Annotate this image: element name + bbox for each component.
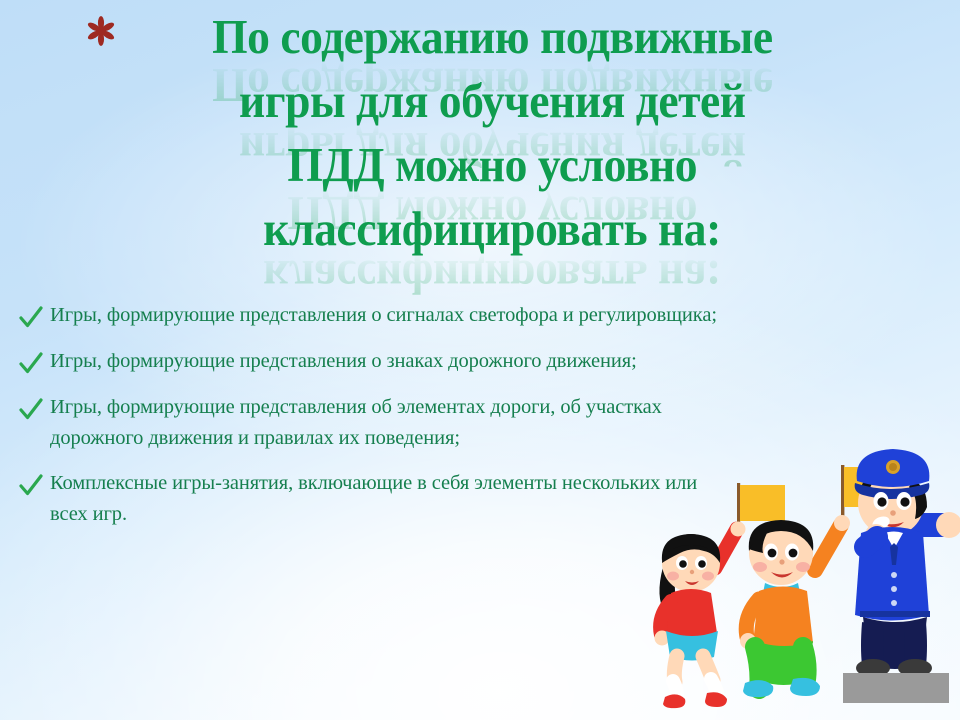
traffic-policeman-and-children-illustration xyxy=(645,425,960,720)
checkmark-icon xyxy=(18,396,44,424)
title-line-3-text: ПДД можно условно xyxy=(287,136,697,194)
title-line-3: ПДД можно условно ПДД можно условно xyxy=(92,136,892,200)
list-item: Комплексные игры-занятия, включающие в с… xyxy=(18,468,718,530)
checkmark-icon xyxy=(18,304,44,332)
title-line-2: игры для обучения детей игры для обучени… xyxy=(92,72,892,136)
title-lines: По содержанию подвижные По содержанию по… xyxy=(92,8,892,264)
list-item: Игры, формирующие представления о знаках… xyxy=(18,346,718,378)
title-line-2-text: игры для обучения детей xyxy=(239,72,745,130)
list-item-text: Комплексные игры-занятия, включающие в с… xyxy=(50,468,718,530)
title-line-4: классифицировать на: классифицировать на… xyxy=(92,200,892,264)
list-item-text: Игры, формирующие представления о знаках… xyxy=(50,346,637,377)
title-line-1-text: По содержанию подвижные xyxy=(212,8,773,66)
slide-title: По содержанию подвижные По содержанию по… xyxy=(92,8,892,264)
list-item: Игры, формирующие представления об элеме… xyxy=(18,392,718,454)
list-item: Игры, формирующие представления о сигнал… xyxy=(18,300,718,332)
list-item-text: Игры, формирующие представления об элеме… xyxy=(50,392,718,454)
title-line-4-text: классифицировать на: xyxy=(263,200,721,258)
title-line-1: По содержанию подвижные По содержанию по… xyxy=(92,8,892,72)
checkmark-icon xyxy=(18,350,44,378)
police-pedestal xyxy=(843,673,949,703)
checkmark-icon xyxy=(18,472,44,500)
policeman-figure xyxy=(843,449,960,703)
presentation-slide: По содержанию подвижные По содержанию по… xyxy=(0,0,960,720)
illustration-svg xyxy=(645,425,960,720)
list-item-text: Игры, формирующие представления о сигнал… xyxy=(50,300,717,331)
bullet-list: Игры, формирующие представления о сигнал… xyxy=(18,300,718,544)
